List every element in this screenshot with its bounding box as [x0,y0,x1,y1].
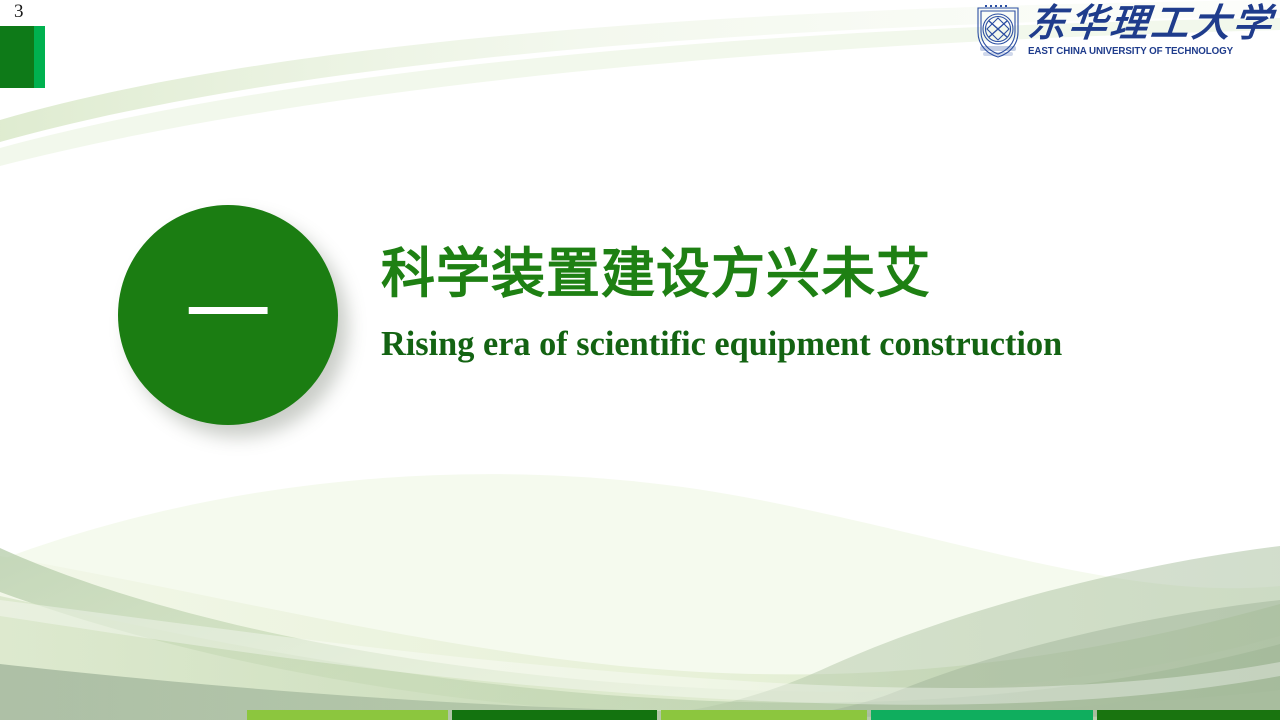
bottom-bar-segment-2 [452,710,657,720]
bottom-accent-bar [0,710,1280,720]
bottom-bar-segment-3 [661,710,867,720]
logo-name-cn: 东华理工大学 [1026,2,1277,46]
section-title-en: Rising era of scientific equipment const… [381,324,1062,364]
bottom-bar-segment-4 [871,710,1093,720]
slide-number: 3 [14,1,24,23]
university-logo: 东华理工大学 EAST CHINA UNIVERSITY OF TECHNOLO… [970,2,1274,62]
logo-wordmark: 东华理工大学 EAST CHINA UNIVERSITY OF TECHNOLO… [1028,2,1274,57]
bottom-bar-segment-1 [247,710,448,720]
university-crest-icon [970,2,1026,60]
bottom-bar-segment-5 [1097,710,1280,720]
section-marker-number: 一 [185,272,271,358]
section-marker-circle: 一 [118,205,338,425]
slide-canvas: 3 [0,0,1280,720]
section-title-cn: 科学装置建设方兴未艾 [381,243,1076,305]
corner-accent-strip [34,26,45,88]
section-headings: 科学装置建设方兴未艾 Rising era of scientific equi… [381,243,1076,364]
logo-name-en: EAST CHINA UNIVERSITY OF TECHNOLOGY [1028,45,1233,57]
corner-accent-block [0,26,34,88]
